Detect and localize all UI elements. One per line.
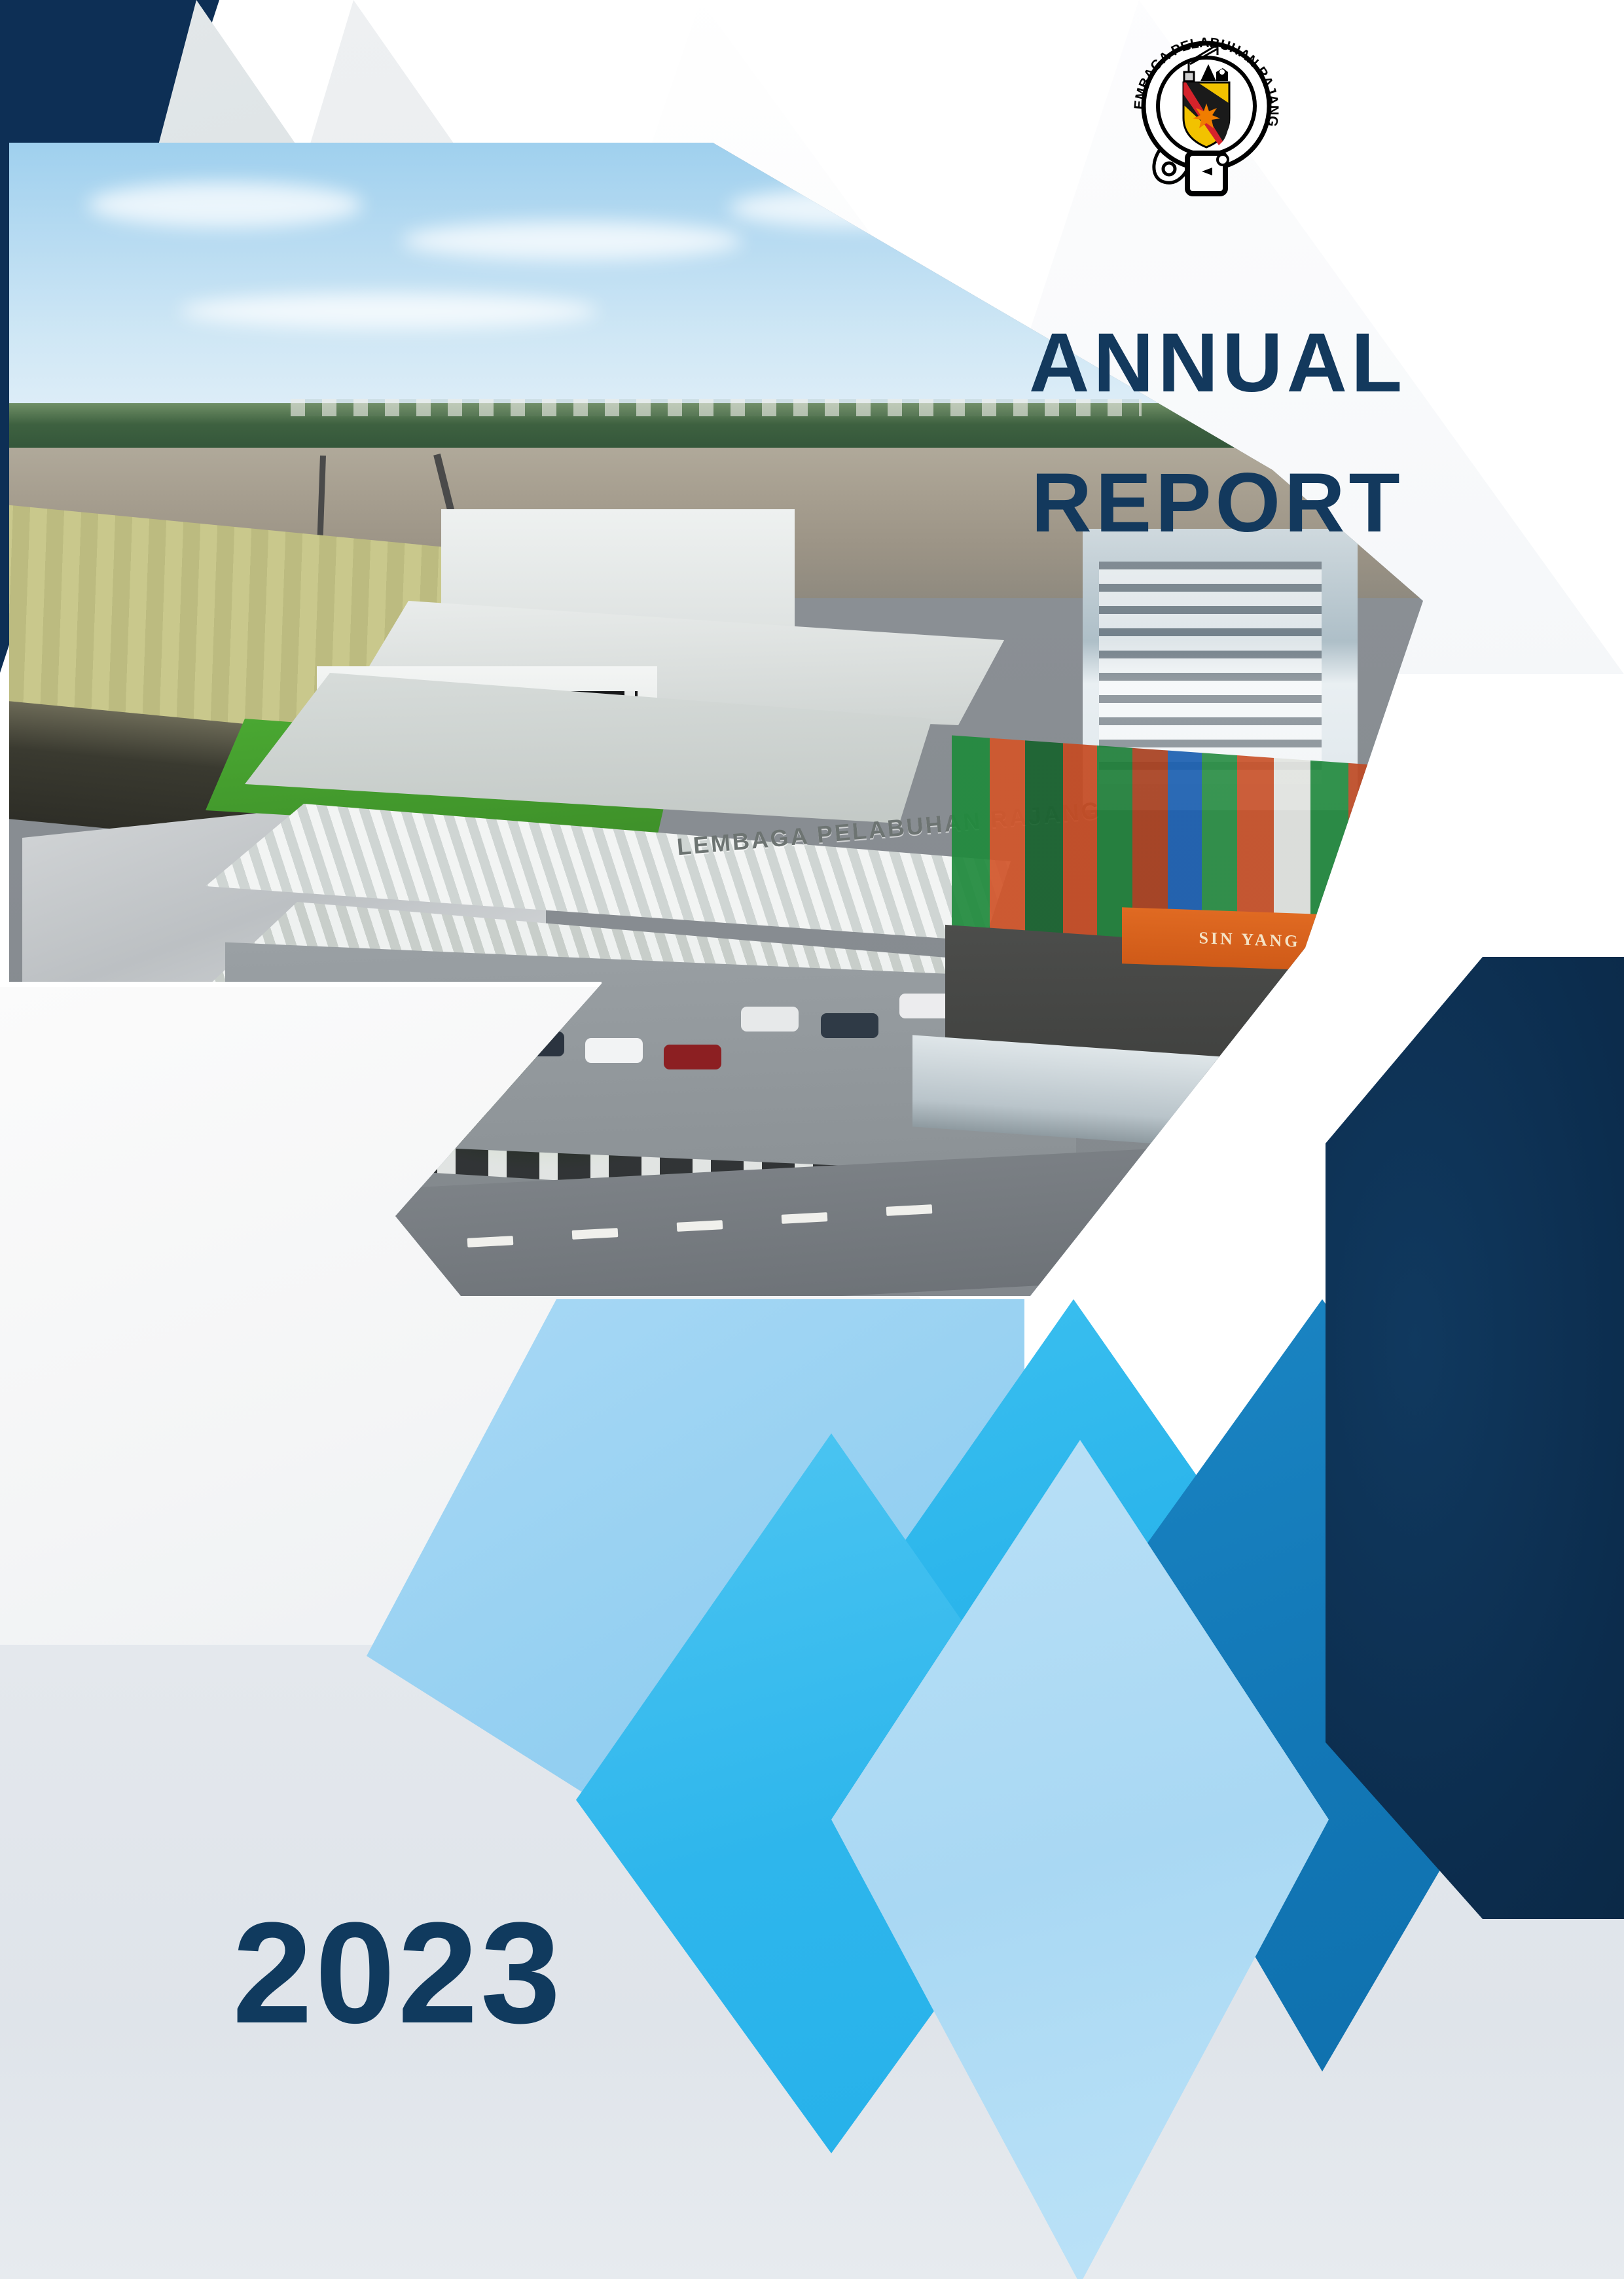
lembaga-pelabuhan-rajang-logo-icon: LEMBAGA PELABUHAN RAJANG — [1125, 26, 1288, 196]
photo-cloud — [402, 221, 742, 260]
annual-report-cover: LEMBAGA PELABUHAN RAJANG BOARD MEMBER SI… — [0, 0, 1624, 2279]
title-line-annual: ANNUAL — [962, 314, 1473, 412]
navy-hexagon-right — [1326, 957, 1624, 1919]
title-line-report: REPORT — [962, 454, 1473, 552]
photo-car — [664, 1045, 721, 1069]
cover-year: 2023 — [232, 1890, 563, 2056]
photo-car — [741, 1007, 799, 1032]
photo-cloud — [179, 293, 598, 329]
cover-title: ANNUAL REPORT — [962, 314, 1473, 552]
photo-car — [821, 1013, 878, 1038]
photo-car — [585, 1038, 643, 1063]
photo-cloud — [88, 182, 363, 228]
photo-truck-container: SIN YANG — [1122, 907, 1377, 973]
